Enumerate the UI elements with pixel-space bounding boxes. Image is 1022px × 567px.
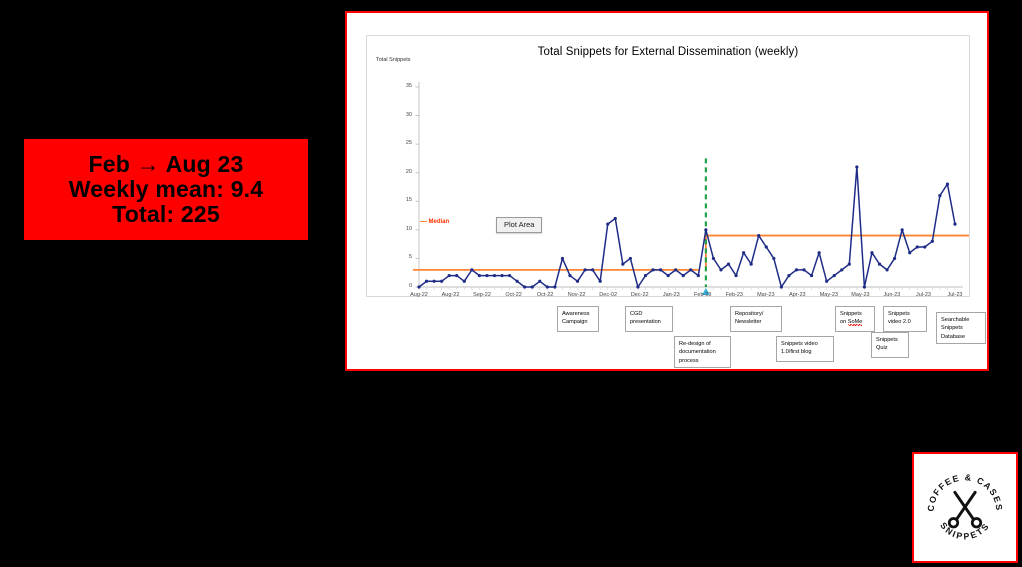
line-chart-svg[interactable]	[367, 36, 971, 298]
annotation-repository-newsletter[interactable]: Repository/Newsletter	[730, 306, 782, 332]
x-tick-1: Aug-22	[434, 292, 468, 298]
svg-text:SNIPPETS: SNIPPETS	[938, 520, 992, 541]
x-tick-10: Feb-23	[717, 292, 751, 298]
annotation-line: Re-design of	[679, 340, 726, 348]
annotation-line: Snippets	[888, 310, 922, 318]
y-tick-15: 15	[394, 197, 412, 203]
y-tick-35: 35	[394, 83, 412, 89]
annotation-line: presentation	[630, 318, 668, 326]
median-line-layer	[413, 236, 969, 270]
chart-panel[interactable]: Total Snippets for External Disseminatio…	[345, 11, 989, 371]
annotation-line: on SoMe	[840, 318, 870, 326]
y-tick-0: 0	[394, 283, 412, 289]
summary-line-period: Feb → Aug 23	[89, 152, 244, 177]
annotation-cgd-presentation[interactable]: CGDpresentation	[625, 306, 673, 332]
x-tick-2: Sep-22	[465, 292, 499, 298]
annotation-line: Snippets video	[781, 340, 829, 348]
x-tick-7: Dec-22	[623, 292, 657, 298]
median-legend: Median	[420, 219, 449, 225]
summary-line-mean: Weekly mean: 9.4	[69, 177, 264, 202]
annotation-line: 1.0/first blog	[781, 348, 829, 356]
y-tick-10: 10	[394, 226, 412, 232]
y-tick-30: 30	[394, 112, 412, 118]
x-tick-15: Jun-23	[875, 292, 909, 298]
annotation-line: Repository/	[735, 310, 777, 318]
annotation-redesign-docs[interactable]: Re-design ofdocumentationprocess	[674, 336, 731, 368]
x-tick-16: Jul-23	[906, 292, 940, 298]
annotation-line: video 2.0	[888, 318, 922, 326]
summary-line-total: Total: 225	[112, 202, 220, 227]
x-tick-8: Jan-23	[654, 292, 688, 298]
x-tick-11: Mar-23	[749, 292, 783, 298]
x-tick-14: May-23	[843, 292, 877, 298]
annotation-line: Snippets	[941, 324, 981, 332]
annotation-snippets-quiz[interactable]: SnippetsQuiz	[871, 332, 909, 358]
annotation-line: Database	[941, 333, 981, 341]
x-tick-3: Oct-22	[497, 292, 531, 298]
median-legend-label: Median	[429, 219, 450, 225]
annotation-line: Quiz	[876, 344, 904, 352]
logo-badge: COFFEE & CASES SNIPPETS	[912, 452, 1018, 563]
summary-callout: Feb → Aug 23 Weekly mean: 9.4 Total: 225	[24, 139, 308, 240]
annotation-line: Newsletter	[735, 318, 777, 326]
annotation-line: CGD	[630, 310, 668, 318]
x-tick-9: Feb-23	[686, 292, 720, 298]
x-tick-5: Nov-22	[560, 292, 594, 298]
annotation-searchable-db[interactable]: SearchableSnippetsDatabase	[936, 312, 986, 344]
x-tick-12: Apr-23	[780, 292, 814, 298]
axis-layer	[416, 82, 964, 290]
y-tick-5: 5	[394, 254, 412, 260]
chart-plot-frame[interactable]: Total Snippets for External Disseminatio…	[366, 35, 970, 297]
plot-area-tooltip: Plot Area	[496, 217, 542, 233]
x-tick-17: Jul-23	[938, 292, 972, 298]
annotation-line: Snippets	[876, 336, 904, 344]
x-tick-13: May-23	[812, 292, 846, 298]
annotation-line: documentation	[679, 348, 726, 356]
event-line-layer	[702, 158, 710, 295]
annotation-snippets-video-1[interactable]: Snippets video1.0/first blog	[776, 336, 834, 362]
x-tick-4: Oct-22	[528, 292, 562, 298]
annotation-snippets-video-2[interactable]: Snippetsvideo 2.0	[883, 306, 927, 332]
annotation-line: process	[679, 357, 726, 365]
annotation-line: Campaign	[562, 318, 594, 326]
x-tick-0: Aug-22	[402, 292, 436, 298]
median-legend-dash-icon	[420, 221, 427, 222]
annotation-line: Awareness	[562, 310, 594, 318]
annotation-line: Searchable	[941, 316, 981, 324]
x-tick-6: Dec-02	[591, 292, 625, 298]
annotation-awareness-campaign[interactable]: AwarenessCampaign	[557, 306, 599, 332]
annotation-line: Snippets	[840, 310, 870, 318]
y-tick-25: 25	[394, 140, 412, 146]
coffee-and-cases-snippets-logo: COFFEE & CASES SNIPPETS	[919, 462, 1011, 554]
y-tick-20: 20	[394, 169, 412, 175]
annotation-snippets-on-some[interactable]: Snippetson SoMe	[835, 306, 875, 332]
scissors-icon	[949, 492, 980, 527]
